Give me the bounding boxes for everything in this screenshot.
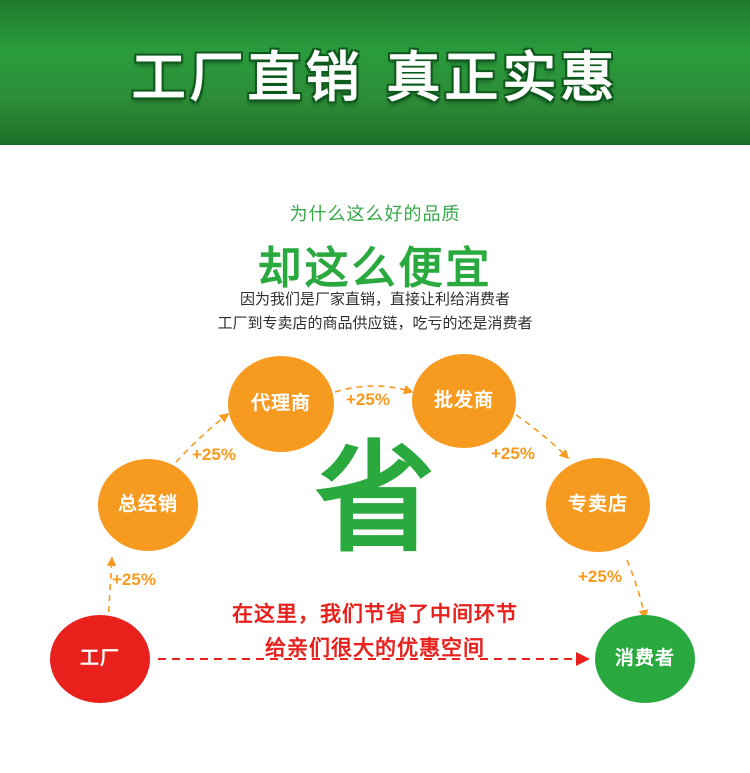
section-subtitle: 为什么这么好的品质: [0, 200, 750, 226]
node-consumer[interactable]: 消费者: [595, 615, 695, 703]
markup-agent-to-wholesaler: +25%: [346, 390, 390, 410]
node-agent-label: 代理商: [251, 393, 311, 415]
markup-factory-to-general-agent: +25%: [112, 570, 156, 590]
markup-exclusive-store-to-consumer: +25%: [578, 567, 622, 587]
node-consumer-label: 消费者: [615, 648, 675, 670]
arrow-exclusive-store-to-consumer: [627, 560, 645, 618]
node-wholesaler[interactable]: 批发商: [412, 354, 516, 448]
markup-general-agent-to-agent: +25%: [192, 445, 236, 465]
savings-callout-line-2: 给亲们很大的优惠空间: [175, 632, 575, 666]
node-general-agent[interactable]: 总经销: [98, 459, 198, 551]
node-general-agent-label: 总经销: [118, 494, 178, 516]
section-description: 因为我们是厂家直销，直接让利给消费者 工厂到专卖店的商品供应链，吃亏的还是消费者: [0, 288, 750, 336]
node-factory[interactable]: 工厂: [50, 615, 150, 703]
markup-wholesaler-to-exclusive-store: +25%: [491, 444, 535, 464]
node-factory-label: 工厂: [80, 648, 120, 670]
header-banner: 工厂直销 真正实惠: [0, 0, 750, 145]
supply-chain-diagram: 省 工厂 总经销 代理商 批发商 专卖店 消费者 +25% +25% +25% …: [0, 330, 750, 730]
banner-title: 工厂直销 真正实惠: [132, 33, 619, 112]
section-title: 却这么便宜: [0, 232, 750, 296]
center-save-character: 省: [275, 440, 475, 560]
node-agent[interactable]: 代理商: [228, 356, 334, 452]
node-exclusive-store[interactable]: 专卖店: [546, 458, 650, 552]
savings-callout: 在这里，我们节省了中间环节 给亲们很大的优惠空间: [175, 598, 575, 666]
node-exclusive-store-label: 专卖店: [568, 494, 628, 516]
arrow-factory-to-general-agent: [108, 558, 112, 623]
node-wholesaler-label: 批发商: [434, 390, 494, 412]
savings-callout-line-1: 在这里，我们节省了中间环节: [175, 598, 575, 632]
description-line-1: 因为我们是厂家直销，直接让利给消费者: [0, 288, 750, 312]
